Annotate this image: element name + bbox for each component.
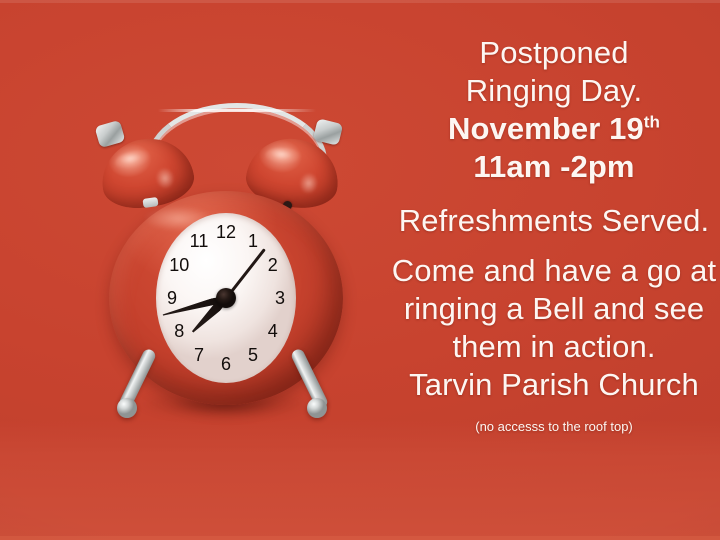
clock-numeral-3: 3: [275, 289, 285, 307]
clock-numeral-11: 11: [190, 232, 209, 250]
bell-left-highlight-secondary: [150, 164, 180, 198]
headline-line-postponed: Postponed: [388, 34, 720, 72]
clock-numeral-2: 2: [268, 256, 278, 274]
clock-numeral-4: 4: [268, 322, 278, 340]
invite-line-2: ringing a Bell and see: [388, 290, 720, 328]
clock-numeral-9: 9: [167, 289, 177, 307]
access-note: (no accesss to the roof top): [388, 418, 720, 436]
venue-line: Tarvin Parish Church: [388, 366, 720, 404]
invite-line-1: Come and have a go at: [388, 252, 720, 290]
clock-numeral-12: 12: [216, 223, 236, 241]
bell-left-highlight: [114, 148, 157, 174]
photo-bottom-edge: [0, 536, 720, 540]
clock-foot-right: [307, 398, 327, 418]
invite-line-3: them in action.: [388, 328, 720, 366]
bell-left-stem: [142, 197, 158, 208]
text-spacer-2: [388, 240, 720, 252]
photo-top-edge: [0, 0, 720, 3]
bell-right-highlight: [264, 145, 306, 170]
date-ordinal-suffix: th: [644, 113, 660, 132]
clock-numeral-10: 10: [169, 256, 189, 274]
clock-hands-hub: [216, 288, 236, 308]
clock-dial: 121234567891011: [156, 213, 296, 383]
clock-numeral-5: 5: [248, 346, 258, 364]
poster-text-block: Postponed Ringing Day. November 19th 11a…: [388, 34, 720, 436]
bell-left-nut: [94, 120, 125, 148]
poster-canvas: 121234567891011 Postponed Ringing Day. N…: [0, 0, 720, 540]
clock-numeral-8: 8: [174, 322, 184, 340]
date-text: November 19: [448, 111, 644, 146]
headline-line-time: 11am -2pm: [388, 148, 720, 186]
text-spacer-1: [388, 186, 720, 202]
headline-line-date: November 19th: [388, 110, 720, 148]
refreshments-line: Refreshments Served.: [388, 202, 720, 240]
bell-right-highlight-secondary: [293, 170, 323, 203]
alarm-clock-image: 121234567891011: [95, 95, 355, 440]
headline-line-ringing-day: Ringing Day.: [388, 72, 720, 110]
clock-numeral-1: 1: [248, 232, 258, 250]
clock-numeral-6: 6: [221, 355, 231, 373]
clock-foot-left: [117, 398, 137, 418]
clock-numeral-7: 7: [194, 346, 204, 364]
